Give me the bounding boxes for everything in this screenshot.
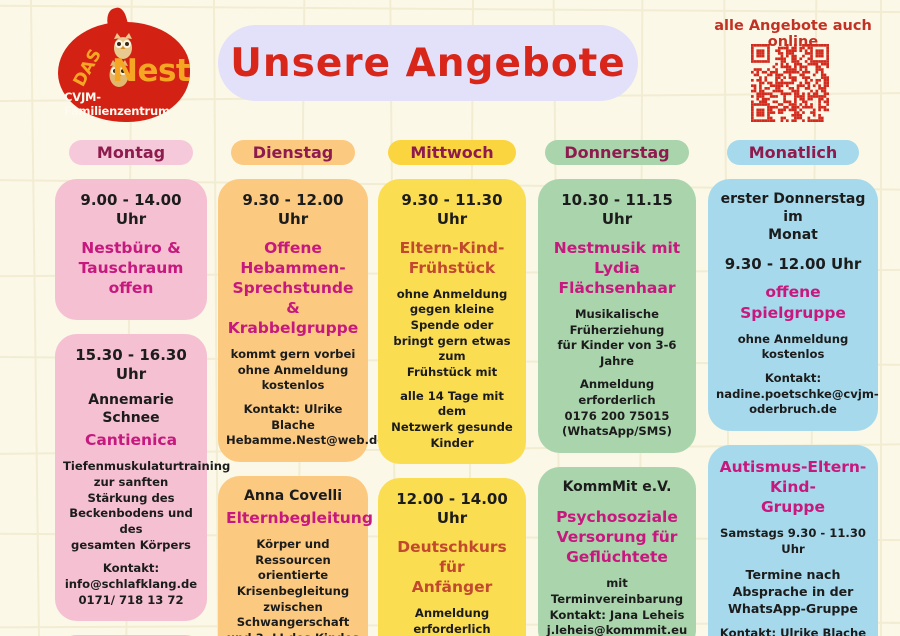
column-mittwoch: Mittwoch9.30 - 11.30 UhrEltern-Kind-Früh… (378, 140, 526, 636)
offer-card[interactable]: 9.30 - 11.30 UhrEltern-Kind-Frühstückohn… (378, 179, 526, 464)
offer-time: 9.30 - 12.00 Uhr (716, 255, 870, 274)
offer-card[interactable]: Autismus-Eltern-Kind-GruppeSamstags 9.30… (708, 445, 878, 636)
offer-description: Samstags 9.30 - 11.30 Uhr (716, 526, 870, 557)
offer-time: 12.00 - 14.00 Uhr (386, 490, 518, 528)
column-donnerstag: Donnerstag10.30 - 11.15 UhrNestmusik mit… (538, 140, 696, 636)
page-title: Unsere Angebote (230, 41, 625, 86)
column-montag: Montag9.00 - 14.00 UhrNestbüro &Tauschra… (55, 140, 207, 636)
offer-card[interactable]: 9.00 - 14.00 UhrNestbüro &Tauschraumoffe… (55, 179, 207, 320)
offer-card[interactable]: 15.30 - 16.30 UhrAnnemarie SchneeCantien… (55, 334, 207, 621)
offer-title: PsychosozialeVersorung fürGeflüchtete (546, 507, 688, 567)
offer-contact: Anmeldung erforderlichKontakt: Ula Shaba… (386, 606, 518, 636)
column-dienstag: Dienstag9.30 - 12.00 UhrOffene Hebammen-… (218, 140, 368, 636)
offer-title: Cantienica (63, 430, 199, 450)
offer-time: 10.30 - 11.15 Uhr (546, 191, 688, 229)
column-header-monatlich: Monatlich (727, 140, 859, 165)
offer-time: 9.30 - 11.30 Uhr (386, 191, 518, 229)
offer-org: KommMit e.V. (546, 479, 688, 497)
offer-description-secondary: Termine nach Absprache in derWhatsApp-Gr… (716, 566, 870, 618)
offer-title: Elternbegleitung (226, 508, 360, 528)
offer-card[interactable]: Anna CovelliElternbegleitungKörper und R… (218, 476, 368, 636)
offer-time: 9.00 - 14.00 Uhr (63, 191, 199, 229)
nest-logo: DAS Nest CVJM-Familienzentrum (52, 8, 194, 126)
offer-subtitle: erster Donnerstag imMonat (716, 191, 870, 245)
offer-card[interactable]: KommMit e.V.PsychosozialeVersorung fürGe… (538, 467, 696, 636)
title-banner: Unsere Angebote (218, 25, 638, 101)
offer-description: ohne Anmeldunggegen kleine Spende oderbr… (386, 287, 518, 381)
offer-contact: alle 14 Tage mit demNetzwerk gesunde Kin… (386, 389, 518, 452)
offer-description: kommt gern vorbeiohne Anmeldungkostenlos (226, 347, 360, 394)
offer-title: Offene Hebammen-Sprechstunde &Krabbelgru… (226, 238, 360, 339)
offer-description: Körper und Ressourcenorientierte Krisenb… (226, 537, 360, 636)
offer-title: Nestbüro &Tauschraumoffen (63, 238, 199, 298)
offer-contact: Anmeldung erforderlich0176 200 75015(Wha… (546, 377, 688, 440)
offer-title: Autismus-Eltern-Kind-Gruppe (716, 457, 870, 517)
column-monatlich: Monatlicherster Donnerstag imMonat9.30 -… (708, 140, 878, 636)
qr-code[interactable] (751, 44, 829, 122)
offer-time: 9.30 - 12.00 Uhr (226, 191, 360, 229)
logo-subtitle: CVJM-Familienzentrum (64, 90, 194, 118)
offer-title: Eltern-Kind-Frühstück (386, 238, 518, 278)
offer-person: Anna Covelli (226, 488, 360, 506)
offer-description: Tiefenmuskulaturtrainingzur sanften Stär… (63, 459, 199, 553)
offer-time: 15.30 - 16.30 Uhr (63, 346, 199, 384)
offer-contact: mit TerminvereinbarungKontakt: Jana Lehe… (546, 576, 688, 636)
offer-card[interactable]: erster Donnerstag imMonat9.30 - 12.00 Uh… (708, 179, 878, 431)
offer-contact: Kontakt:info@schlafklang.de0171/ 718 13 … (63, 561, 199, 608)
poster-canvas: DAS Nest CVJM-Familienzentrum Unsere Ang… (0, 0, 900, 636)
offer-card[interactable]: 12.00 - 14.00 UhrDeutschkurs fürAnfänger… (378, 478, 526, 636)
offer-title: Deutschkurs fürAnfänger (386, 537, 518, 597)
offer-description: ohne Anmeldungkostenlos (716, 332, 870, 363)
offer-card[interactable]: 9.30 - 12.00 UhrOffene Hebammen-Sprechst… (218, 179, 368, 462)
logo-nest-text: Nest (112, 53, 190, 89)
offer-person: Annemarie Schnee (63, 392, 199, 428)
column-header-dienstag: Dienstag (231, 140, 355, 165)
offer-title: Nestmusik mitLydia Flächsenhaar (546, 238, 688, 298)
offer-card[interactable]: 10.30 - 11.15 UhrNestmusik mitLydia Fläc… (538, 179, 696, 453)
column-header-montag: Montag (69, 140, 193, 165)
offer-title: offene Spielgruppe (716, 282, 870, 322)
offer-description: Musikalische Früherziehungfür Kinder von… (546, 307, 688, 370)
offer-contact: Kontakt:nadine.poetschke@cvjm-oderbruch.… (716, 371, 870, 418)
offer-contact: Kontakt: Ulrike BlacheHebamme.Nest@web.d… (226, 402, 360, 449)
offer-contact: Kontakt: Ulrike Blachehebamme.nest@web.d… (716, 626, 870, 636)
column-header-mittwoch: Mittwoch (388, 140, 516, 165)
column-header-donnerstag: Donnerstag (545, 140, 689, 165)
